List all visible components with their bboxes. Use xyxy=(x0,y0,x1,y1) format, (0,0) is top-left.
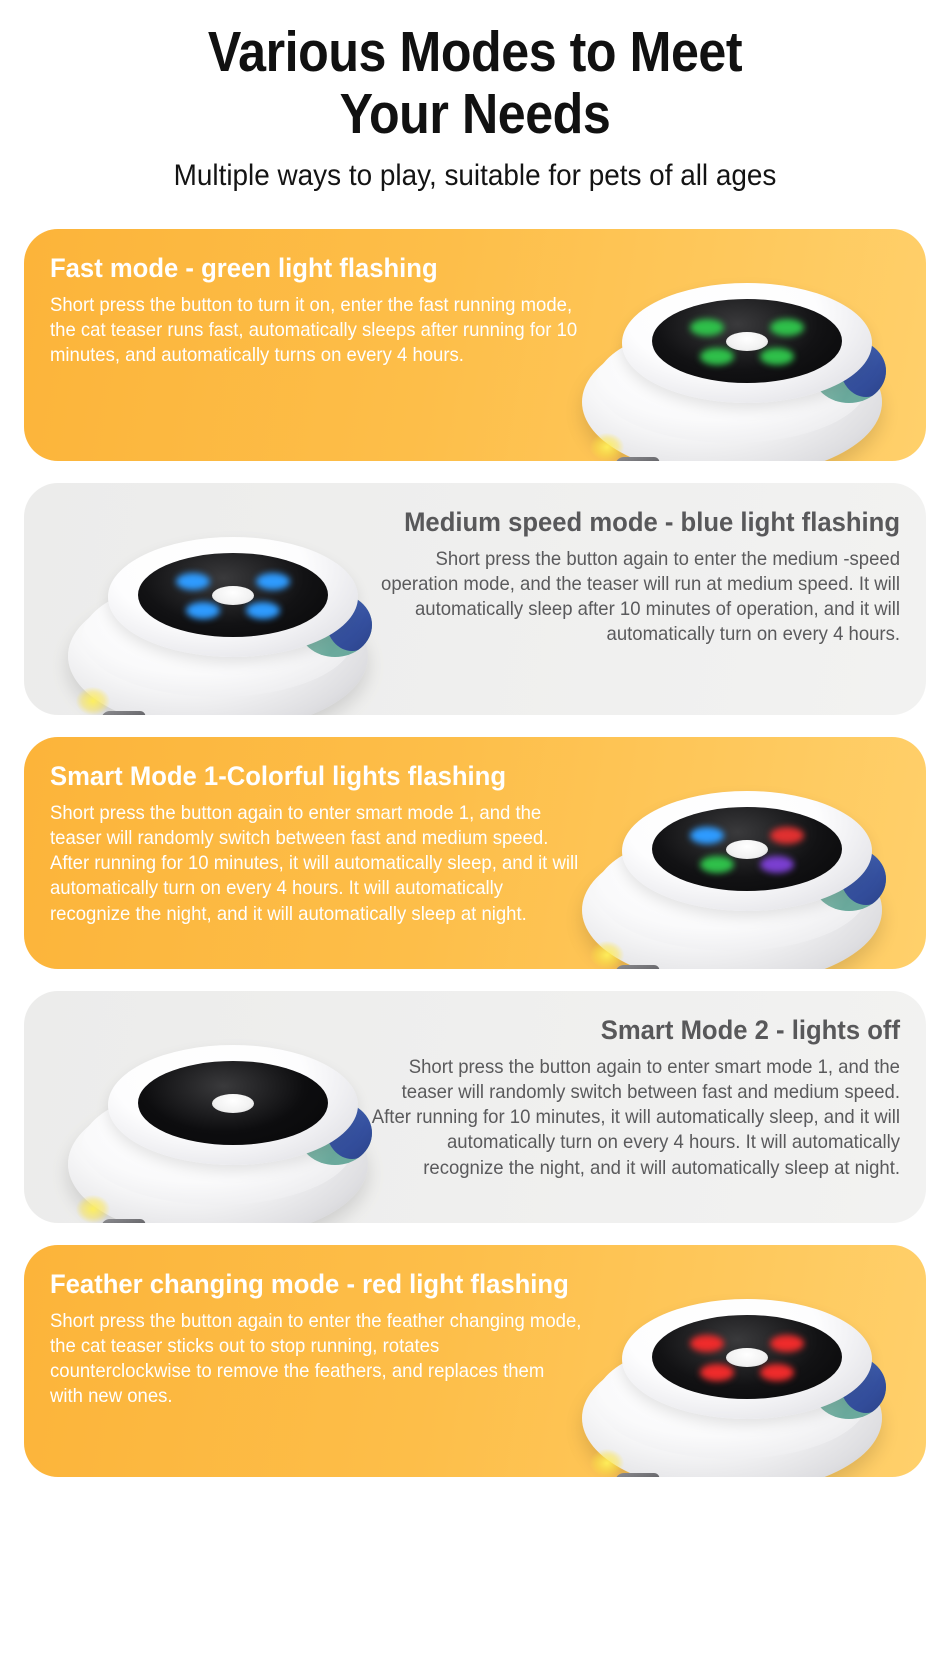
mode-card-title: Feather changing mode - red light flashi… xyxy=(50,1269,582,1301)
feather-sparkle xyxy=(76,1195,110,1223)
mode-card-title: Smart Mode 1-Colorful lights flashing xyxy=(50,761,582,793)
device-base xyxy=(582,1343,882,1477)
device-foot xyxy=(611,1473,661,1477)
led-indicator-tr xyxy=(256,573,290,590)
mode-card-fast-mode: Fast mode - green light flashingShort pr… xyxy=(24,229,926,461)
device-top-shell xyxy=(108,537,358,657)
mode-card-description: Short press the button again to enter sm… xyxy=(368,1055,900,1181)
mode-card-text: Smart Mode 1-Colorful lights flashingSho… xyxy=(50,737,610,927)
mode-card-feather-changing-mode: Feather changing mode - red light flashi… xyxy=(24,1245,926,1477)
feather-sparkle xyxy=(590,1449,624,1477)
device-center-hub xyxy=(726,1348,768,1367)
mode-card-description: Short press the button again to enter th… xyxy=(50,1309,582,1410)
mode-card-text: Fast mode - green light flashingShort pr… xyxy=(50,229,610,368)
feather-sparkle xyxy=(76,687,110,715)
device-paddle xyxy=(812,339,886,403)
led-indicator-tl xyxy=(690,1335,724,1352)
device-base-rim xyxy=(596,831,868,951)
device-base xyxy=(68,1089,368,1223)
device-base-rim xyxy=(82,577,354,697)
mode-card-smart-mode-2: Smart Mode 2 - lights offShort press the… xyxy=(24,991,926,1223)
device-light-panel xyxy=(138,553,328,637)
device-base xyxy=(582,327,882,461)
led-indicator-tl xyxy=(690,827,724,844)
page-subtitle: Multiple ways to play, suitable for pets… xyxy=(33,159,917,193)
mode-card-title: Medium speed mode - blue light flashing xyxy=(368,507,900,539)
led-indicator-bl xyxy=(700,1364,734,1381)
mode-card-text: Smart Mode 2 - lights offShort press the… xyxy=(340,991,900,1181)
led-indicator-tr xyxy=(770,1335,804,1352)
mode-card-smart-mode-1: Smart Mode 1-Colorful lights flashingSho… xyxy=(24,737,926,969)
device-base xyxy=(68,581,368,715)
cat-teaser-device-image xyxy=(556,743,916,969)
device-foot xyxy=(97,1219,147,1223)
led-indicator-bl xyxy=(700,856,734,873)
device-foot xyxy=(611,457,661,461)
led-indicator-tl xyxy=(176,573,210,590)
page-title: Various Modes to Meet Your Needs xyxy=(57,22,893,145)
device-light-panel xyxy=(652,807,842,891)
mode-card-text: Medium speed mode - blue light flashingS… xyxy=(340,483,900,647)
mode-card-list: Fast mode - green light flashingShort pr… xyxy=(0,229,950,1477)
cat-teaser-device-image xyxy=(556,1251,916,1477)
device-paddle xyxy=(812,1355,886,1419)
led-indicator-br xyxy=(246,602,280,619)
mode-card-text: Feather changing mode - red light flashi… xyxy=(50,1245,610,1409)
header: Various Modes to Meet Your Needs Multipl… xyxy=(0,0,950,193)
led-indicator-tr xyxy=(770,319,804,336)
device-top-shell xyxy=(108,1045,358,1165)
mode-card-description: Short press the button to turn it on, en… xyxy=(50,293,582,368)
device-base-rim xyxy=(596,1339,868,1459)
feather-sparkle xyxy=(590,941,624,969)
device-top-shell xyxy=(622,791,872,911)
led-indicator-tl xyxy=(690,319,724,336)
led-indicator-br xyxy=(760,348,794,365)
page-title-line-2: Your Needs xyxy=(57,84,893,146)
led-indicator-bl xyxy=(186,602,220,619)
cat-teaser-device-image xyxy=(556,235,916,461)
led-indicator-br xyxy=(760,856,794,873)
device-center-hub xyxy=(212,586,254,605)
mode-card-title: Fast mode - green light flashing xyxy=(50,253,582,285)
mode-card-title: Smart Mode 2 - lights off xyxy=(368,1015,900,1047)
device-foot xyxy=(97,711,147,715)
device-light-panel xyxy=(652,1315,842,1399)
device-base xyxy=(582,835,882,969)
page-title-line-1: Various Modes to Meet xyxy=(57,22,893,84)
led-indicator-br xyxy=(760,1364,794,1381)
mode-card-medium-speed-mode: Medium speed mode - blue light flashingS… xyxy=(24,483,926,715)
device-center-hub xyxy=(726,332,768,351)
device-base-rim xyxy=(82,1085,354,1205)
device-center-hub xyxy=(212,1094,254,1113)
device-foot xyxy=(611,965,661,969)
device-paddle xyxy=(812,847,886,911)
led-indicator-tr xyxy=(770,827,804,844)
led-indicator-bl xyxy=(700,348,734,365)
device-top-shell xyxy=(622,283,872,403)
device-light-panel xyxy=(138,1061,328,1145)
device-light-panel xyxy=(652,299,842,383)
device-base-rim xyxy=(596,323,868,443)
mode-card-description: Short press the button again to enter th… xyxy=(368,547,900,648)
feather-sparkle xyxy=(590,433,624,461)
mode-card-description: Short press the button again to enter sm… xyxy=(50,801,582,927)
device-top-shell xyxy=(622,1299,872,1419)
device-center-hub xyxy=(726,840,768,859)
infographic-page: Various Modes to Meet Your Needs Multipl… xyxy=(0,0,950,1676)
